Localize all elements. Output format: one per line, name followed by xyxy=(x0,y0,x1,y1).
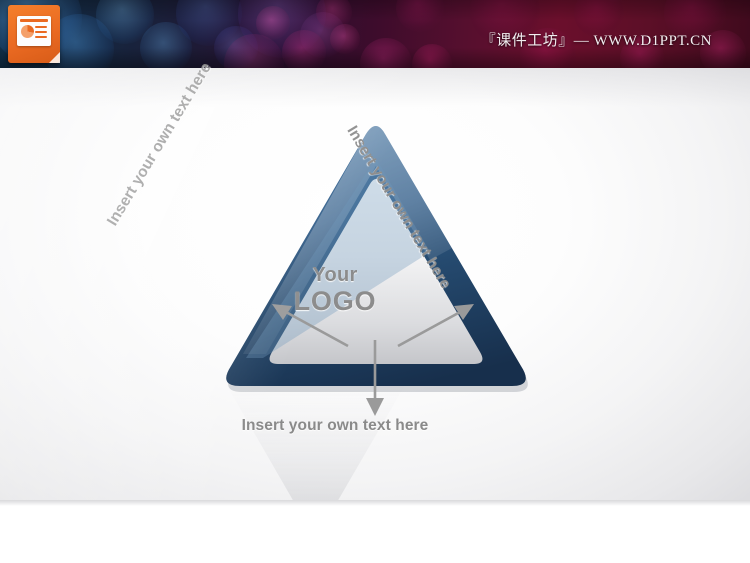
triangle-outer xyxy=(226,126,526,386)
label-left[interactable]: Insert your own text here xyxy=(104,60,216,229)
triangle-graphic xyxy=(0,68,750,500)
logo-line-2: LOGO xyxy=(210,286,460,316)
logo-placeholder[interactable]: Your LOGO xyxy=(210,264,460,317)
header-banner: 『课件工坊』— WWW.D1PPT.CN xyxy=(0,0,750,68)
slide-canvas: 『课件工坊』— WWW.D1PPT.CN xyxy=(0,0,750,563)
label-right[interactable]: Insert your own text here xyxy=(343,123,455,292)
arrow-bottom-head xyxy=(366,398,384,416)
header-brand-text: 『课件工坊』— WWW.D1PPT.CN xyxy=(481,29,712,50)
powerpoint-icon[interactable] xyxy=(8,5,60,63)
arrow-group xyxy=(272,304,474,416)
triangle-diagram: Insert your own text here Insert your ow… xyxy=(0,68,750,500)
triangle-inner xyxy=(270,179,483,364)
logo-line-1: Your xyxy=(210,264,460,286)
powerpoint-icon-glyph xyxy=(17,16,51,46)
footer-bar: 课件工坊 HTTP://WWW.D1PPT.CN xyxy=(0,500,750,563)
slide-body: Insert your own text here Insert your ow… xyxy=(0,68,750,500)
arrow-left-head xyxy=(272,304,292,320)
triangle-highlight-band xyxy=(246,158,430,358)
arrow-right-head xyxy=(454,304,474,320)
arrow-left-shaft xyxy=(284,311,348,346)
arrow-right-shaft xyxy=(398,311,462,346)
triangle-sheen xyxy=(243,126,452,354)
label-bottom[interactable]: Insert your own text here xyxy=(190,417,480,435)
triangle-shadow xyxy=(228,132,528,392)
triangle-reflection xyxy=(224,372,408,500)
